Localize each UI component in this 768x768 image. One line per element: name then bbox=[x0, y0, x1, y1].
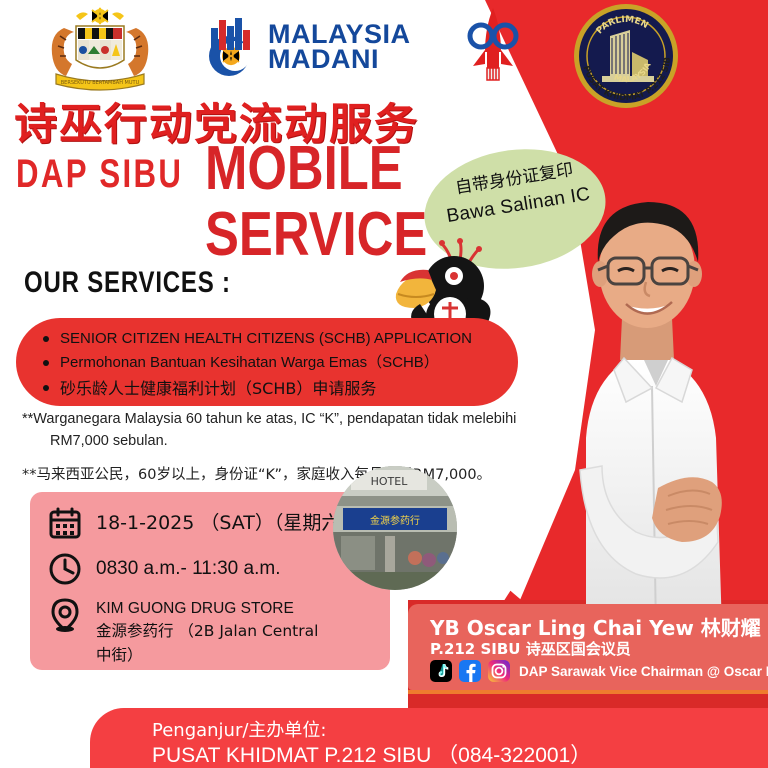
eligibility-notes: **Warganegara Malaysia 60 tahun ke atas,… bbox=[22, 408, 522, 486]
candidate-name-banner: YB Oscar Ling Chai Yew 林财耀 P.212 SIBU 诗巫… bbox=[408, 604, 768, 690]
note-malay: **Warganegara Malaysia 60 tahun ke atas,… bbox=[22, 408, 522, 452]
organizer-name: PUSAT KHIDMAT P.212 SIBU （084-322001） bbox=[152, 739, 591, 768]
dap-sibu-title: DAP SIBU bbox=[16, 152, 183, 197]
service-item-en: SENIOR CITIZEN HEALTH CITIZENS (SCHB) AP… bbox=[60, 327, 518, 351]
svg-text:BERSEKUTU BERTAMBAH MUTU: BERSEKUTU BERTAMBAH MUTU bbox=[61, 80, 140, 86]
svg-text:金源参药行: 金源参药行 bbox=[370, 514, 420, 527]
social-links: DAP Sarawak Vice Chairman @ Oscar Ling bbox=[430, 660, 768, 682]
note-malay-line1: **Warganegara Malaysia 60 tahun ke atas,… bbox=[22, 411, 516, 427]
clock-icon bbox=[48, 552, 82, 586]
instagram-icon[interactable] bbox=[488, 660, 510, 682]
event-time-row: 0830 a.m.- 11:30 a.m. bbox=[48, 552, 280, 586]
malaysia-coat-of-arms: BERSEKUTU BERTAMBAH MUTU bbox=[30, 6, 170, 92]
note-malay-line2: RM7,000 sebulan. bbox=[22, 430, 522, 452]
our-services-label: OUR SERVICES : bbox=[24, 266, 231, 300]
service-item-cn: 砂乐龄人士健康福利计划（SCHB）申请服务 bbox=[60, 376, 518, 402]
event-venue-cn2: 中街） bbox=[96, 646, 143, 664]
calendar-icon bbox=[48, 506, 82, 540]
madani-mark-icon bbox=[205, 16, 259, 78]
location-pin-icon bbox=[48, 598, 82, 632]
event-time: 0830 a.m.- 11:30 a.m. bbox=[96, 552, 280, 586]
service-item-my: Permohonan Bantuan Kesihatan Warga Emas（… bbox=[60, 351, 518, 375]
note-chinese: **马来西亚公民，60岁以上，身份证“K”，家庭收入每月少于RM7,000。 bbox=[22, 464, 522, 486]
services-list: SENIOR CITIZEN HEALTH CITIZENS (SCHB) AP… bbox=[16, 318, 518, 402]
candidate-name: YB Oscar Ling Chai Yew 林财耀 bbox=[430, 612, 761, 641]
tiktok-icon[interactable] bbox=[430, 660, 452, 682]
organizer-banner: Penganjur/主办单位: PUSAT KHIDMAT P.212 SIBU… bbox=[90, 708, 768, 768]
event-date-row: 18-1-2025 （SAT）（星期六） bbox=[48, 506, 359, 540]
services-pill: SENIOR CITIZEN HEALTH CITIZENS (SCHB) AP… bbox=[16, 318, 518, 406]
event-location-row: KIM GUONG DRUG STORE 金源参药行 （2B Jalan Cen… bbox=[48, 598, 318, 667]
parliament-seal: PARLIMEN MALAYSIA PUSAT KHIDMAT P.212 SI… bbox=[572, 2, 680, 110]
event-venue-en: KIM GUONG DRUG STORE bbox=[96, 600, 294, 617]
candidate-position: P.212 SIBU 诗巫区国会议员 bbox=[430, 638, 631, 659]
madani-line2: MADANI bbox=[268, 47, 411, 72]
event-venue: KIM GUONG DRUG STORE 金源参药行 （2B Jalan Cen… bbox=[96, 598, 318, 667]
poster-root: BERSEKUTU BERTAMBAH MUTU MALAYSIA MADANI bbox=[0, 0, 768, 768]
dap-rocket-icon bbox=[465, 6, 521, 90]
venue-photo: HOTEL 金源参药行 bbox=[333, 466, 457, 590]
svg-text:HOTEL: HOTEL bbox=[371, 475, 409, 488]
facebook-icon[interactable] bbox=[459, 660, 481, 682]
mobile-title: MOBILE bbox=[205, 140, 403, 197]
event-venue-cn: 金源参药行 （2B Jalan Central bbox=[96, 622, 318, 640]
malaysia-madani-logo: MALAYSIA MADANI bbox=[205, 10, 405, 84]
banner-divider bbox=[408, 690, 768, 694]
event-date: 18-1-2025 （SAT）（星期六） bbox=[96, 506, 359, 540]
social-handle: DAP Sarawak Vice Chairman @ Oscar Ling bbox=[519, 664, 768, 679]
